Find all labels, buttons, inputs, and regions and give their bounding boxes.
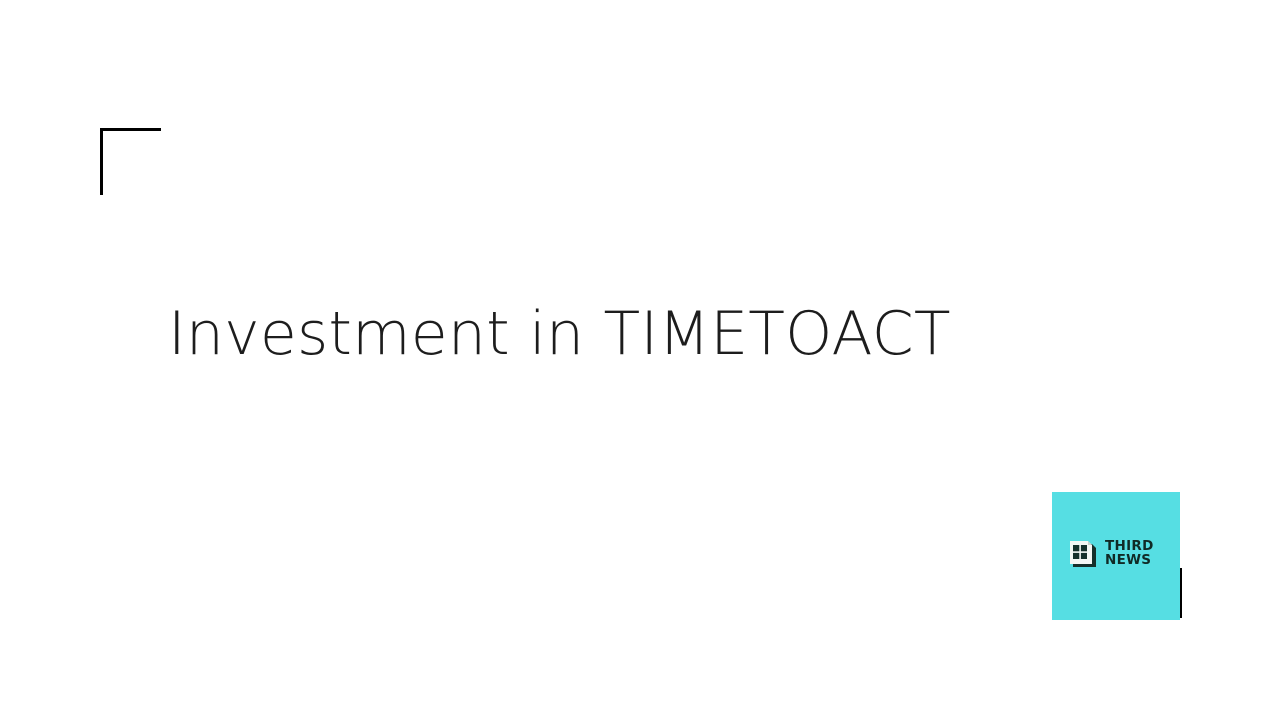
- presentation-slide: Investment in TIMETOACT: [0, 0, 1280, 720]
- corner-bracket-top-left-icon: [100, 128, 161, 195]
- news-page-window-icon: [1068, 539, 1098, 569]
- logo-lockup: THIRD NEWS: [1068, 532, 1180, 576]
- logo-wordmark-line-2: NEWS: [1105, 554, 1154, 568]
- slide-title: Investment in TIMETOACT: [168, 300, 1128, 370]
- logo-wordmark: THIRD NEWS: [1105, 540, 1154, 568]
- logo-tile-background: THIRD NEWS: [1052, 492, 1180, 620]
- logo-block: THIRD NEWS: [1052, 492, 1180, 620]
